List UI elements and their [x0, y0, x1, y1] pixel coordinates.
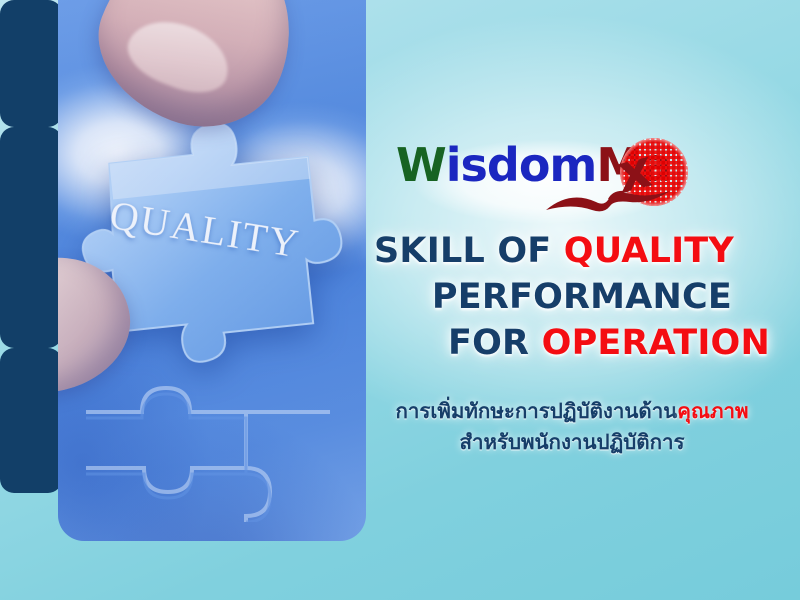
puzzle-photo: QUALITY — [58, 0, 366, 541]
photo-color-tint — [58, 0, 366, 541]
subtitle-line-1-red: คุณภาพ — [677, 399, 748, 423]
logo-swoosh-icon — [544, 188, 672, 216]
headline-line-2: PERFORMANCE — [360, 274, 784, 320]
headline-line-3-red: OPERATION — [542, 323, 770, 363]
headline-line-3-navy: FOR — [448, 323, 542, 363]
headline-block: SKILL OF QUALITY PERFORMANCE FOR OPERATI… — [360, 228, 784, 367]
headline-line-2-navy: PERFORMANCE — [432, 277, 732, 317]
logo-letter-w: W — [396, 138, 446, 192]
headline-line-1-red: QUALITY — [564, 231, 734, 271]
subtitle-line-1: การเพิ่มทักษะการปฏิบัติงานด้านคุณภาพ — [360, 396, 784, 427]
wisdommax-logo: WisdomMa x — [396, 140, 696, 218]
subtitle-block: การเพิ่มทักษะการปฏิบัติงานด้านคุณภาพ สำห… — [360, 396, 784, 458]
subtitle-line-2: สำหรับพนักงานปฏิบัติการ — [360, 427, 784, 458]
subtitle-line-2-navy: สำหรับพนักงานปฏิบัติการ — [459, 430, 684, 454]
poster-canvas: QUALITY WisdomMa x SKILL OF QUALITY PERF… — [0, 0, 800, 600]
logo-letters-isdom: isdom — [446, 138, 597, 192]
headline-line-1: SKILL OF QUALITY — [360, 228, 784, 274]
decor-bar-right — [0, 127, 62, 348]
headline-line-1-navy: SKILL OF — [374, 231, 564, 271]
decor-bar-bottom — [0, 348, 62, 493]
decor-bar-top — [0, 0, 62, 127]
subtitle-line-1-navy: การเพิ่มทักษะการปฏิบัติงานด้าน — [395, 399, 677, 423]
headline-line-3: FOR OPERATION — [360, 320, 784, 366]
